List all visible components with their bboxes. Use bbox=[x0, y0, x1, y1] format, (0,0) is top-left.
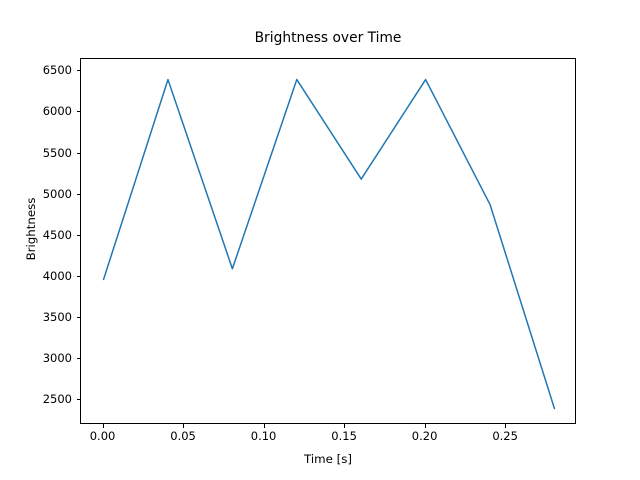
y-tick-label: 3500 bbox=[43, 311, 72, 323]
x-tick-label: 0.15 bbox=[314, 430, 374, 442]
y-tick-mark bbox=[77, 317, 81, 318]
x-tick-mark bbox=[344, 424, 345, 428]
y-tick-mark bbox=[77, 153, 81, 154]
y-tick-label: 4000 bbox=[43, 270, 72, 282]
x-axis-label: Time [s] bbox=[80, 452, 576, 466]
x-tick-label: 0.05 bbox=[153, 430, 213, 442]
x-axis-tick-labels: 0.000.050.100.150.200.25 bbox=[0, 430, 640, 450]
x-tick-mark bbox=[103, 424, 104, 428]
chart-title: Brightness over Time bbox=[80, 30, 576, 46]
y-tick-label: 5000 bbox=[43, 188, 72, 200]
y-tick-mark bbox=[77, 70, 81, 71]
y-tick-mark bbox=[77, 399, 81, 400]
y-tick-mark bbox=[77, 358, 81, 359]
y-tick-label: 6000 bbox=[43, 105, 72, 117]
y-tick-mark bbox=[77, 111, 81, 112]
x-tick-label: 0.20 bbox=[395, 430, 455, 442]
plot-area bbox=[80, 58, 576, 424]
x-tick-mark bbox=[183, 424, 184, 428]
y-tick-mark bbox=[77, 235, 81, 236]
y-tick-label: 5500 bbox=[43, 147, 72, 159]
x-tick-label: 0.10 bbox=[234, 430, 294, 442]
data-line-brightness bbox=[104, 80, 555, 409]
x-tick-mark bbox=[264, 424, 265, 428]
y-tick-label: 4500 bbox=[43, 229, 72, 241]
y-tick-label: 3000 bbox=[43, 352, 72, 364]
y-tick-mark bbox=[77, 276, 81, 277]
y-tick-label: 2500 bbox=[43, 393, 72, 405]
x-tick-mark bbox=[505, 424, 506, 428]
y-axis-label: Brightness bbox=[24, 169, 38, 289]
x-tick-label: 0.00 bbox=[73, 430, 133, 442]
line-plot-svg bbox=[81, 59, 577, 425]
x-tick-mark bbox=[425, 424, 426, 428]
matplotlib-figure: Brightness over Time 2500300035004000450… bbox=[0, 0, 640, 480]
y-tick-mark bbox=[77, 194, 81, 195]
y-tick-label: 6500 bbox=[43, 64, 72, 76]
x-tick-label: 0.25 bbox=[475, 430, 535, 442]
